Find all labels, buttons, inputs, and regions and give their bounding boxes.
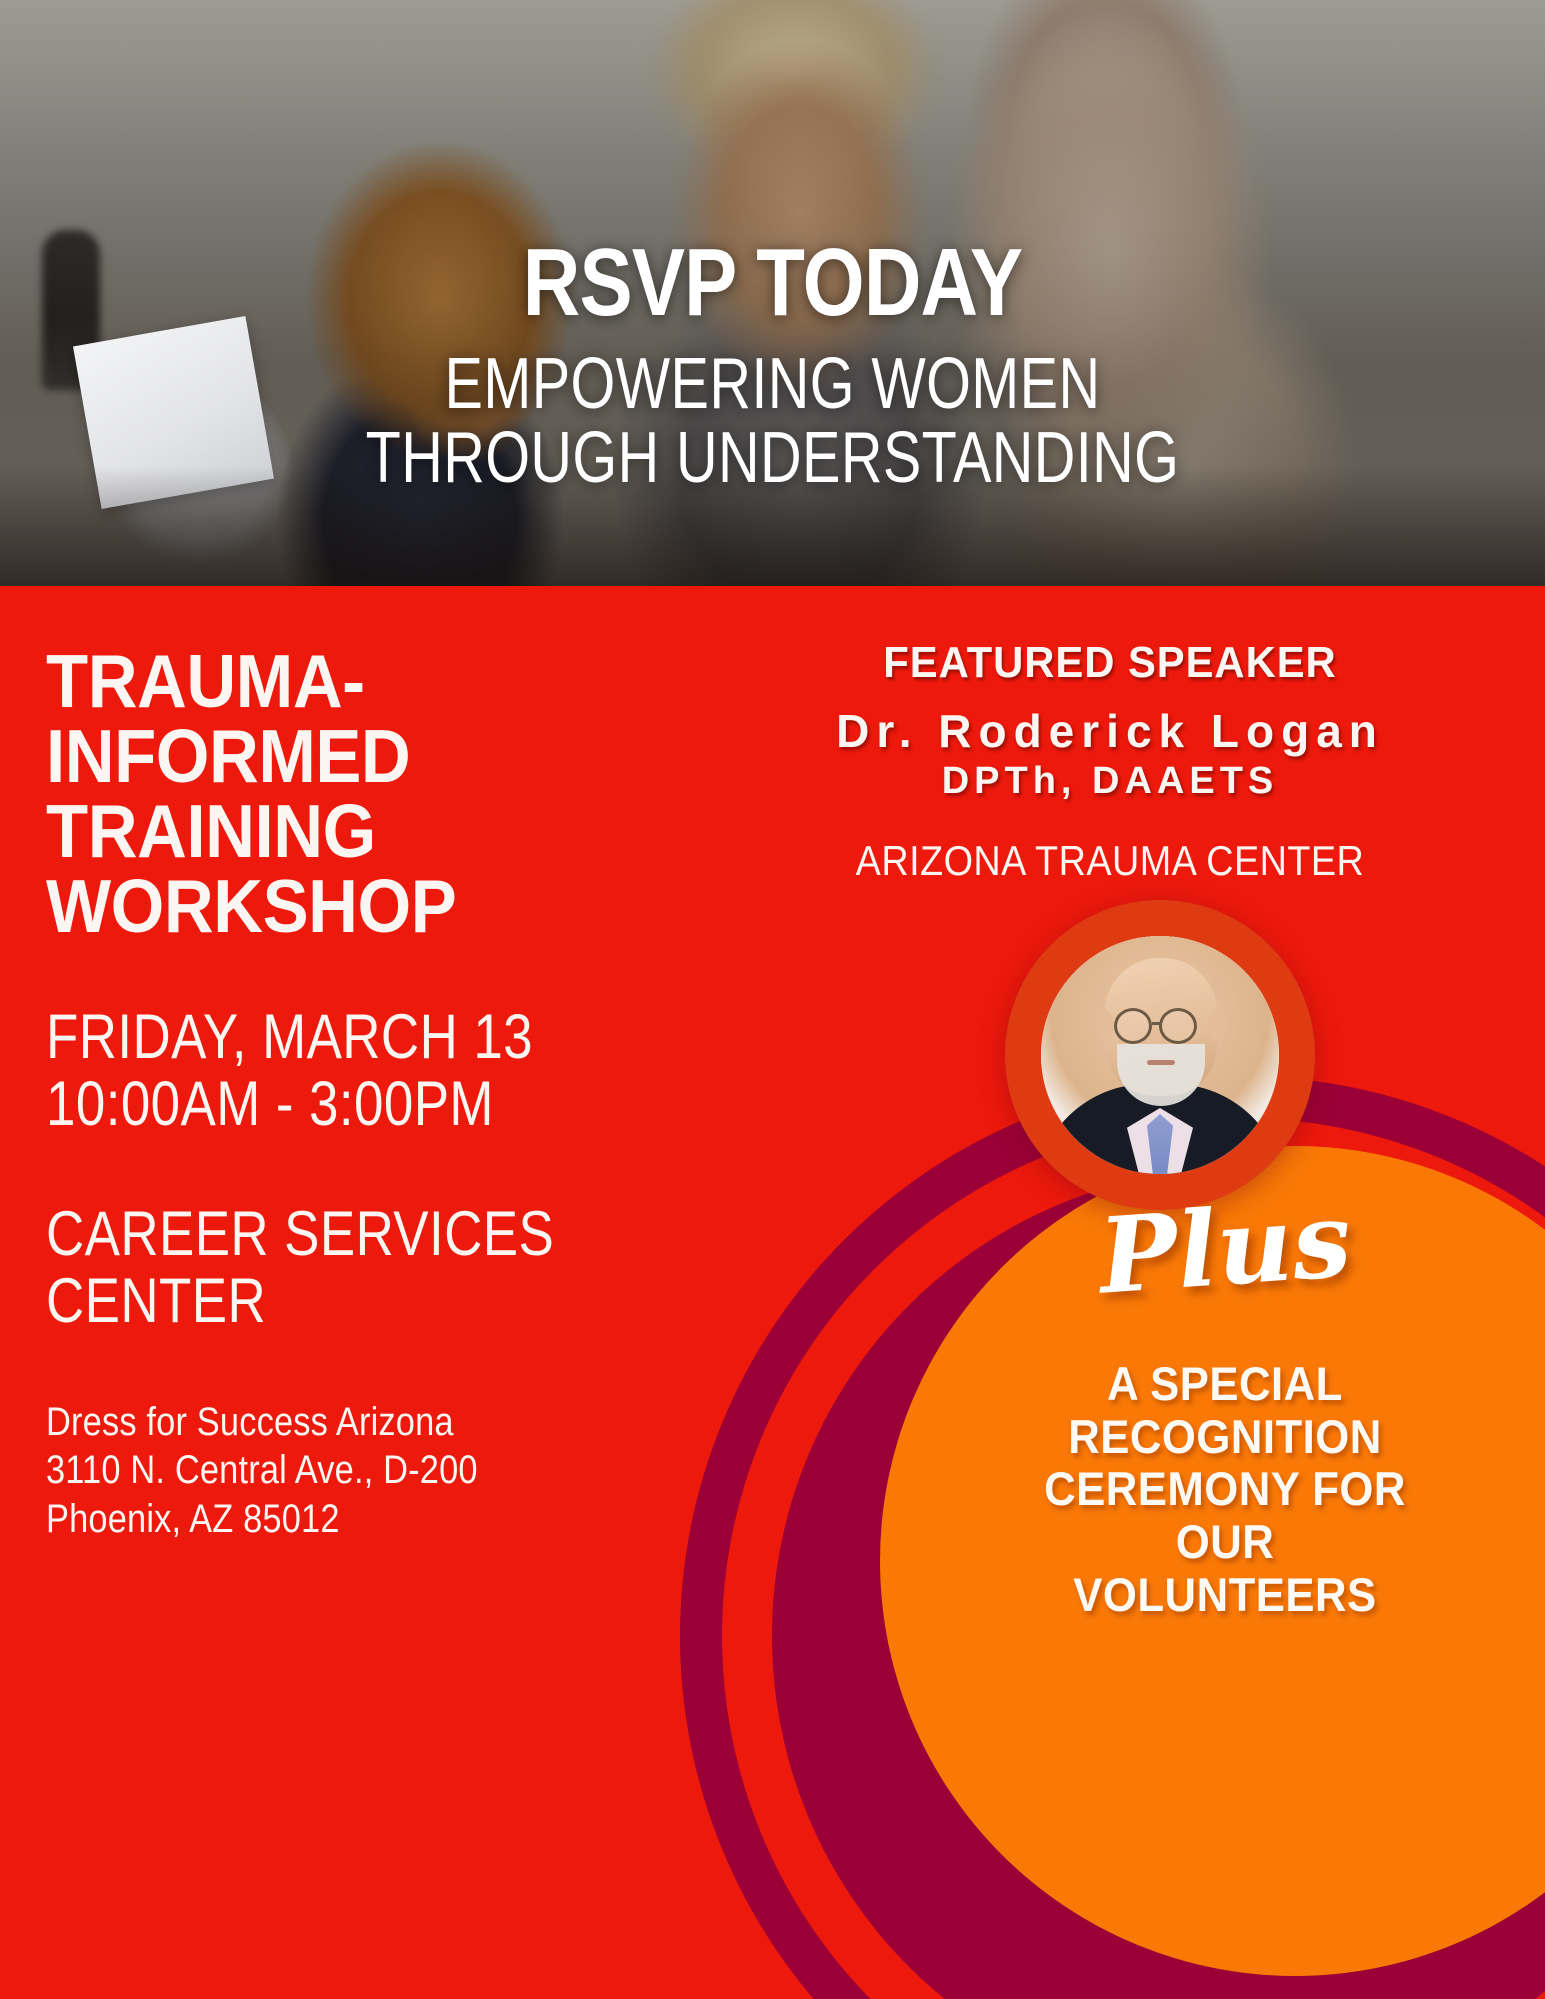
speaker-organization: ARIZONA TRAUMA CENTER [777, 837, 1443, 885]
plus-script-word: Plus [1007, 1181, 1443, 1315]
workshop-title-line-2: TRAINING WORKSHOP [46, 794, 690, 944]
hero-subtitle: EMPOWERING WOMEN THROUGH UNDERSTANDING [155, 348, 1391, 495]
event-details-column: TRAUMA-INFORMED TRAINING WORKSHOP FRIDAY… [46, 644, 746, 1544]
ceremony-line-4: OUR VOLUNTEERS [1025, 1516, 1425, 1621]
hero-subtitle-line-1: EMPOWERING WOMEN [155, 348, 1391, 421]
hero-subtitle-line-2: THROUGH UNDERSTANDING [155, 422, 1391, 495]
event-date: FRIDAY, MARCH 13 [46, 1004, 634, 1071]
venue-line-2: CENTER [46, 1268, 634, 1335]
ceremony-line-1: A SPECIAL [1025, 1358, 1425, 1411]
speaker-credentials: DPTh, DAAETS [740, 760, 1480, 803]
portrait-ear-right [1208, 1010, 1225, 1040]
venue-block: CAREER SERVICES CENTER [46, 1201, 634, 1336]
date-time-block: FRIDAY, MARCH 13 10:00AM - 3:00PM [46, 1004, 634, 1139]
venue-line-1: CAREER SERVICES [46, 1201, 634, 1268]
portrait-ear-left [1097, 1010, 1114, 1040]
address-line-3: Phoenix, AZ 85012 [46, 1495, 648, 1544]
featured-speaker-label: FEATURED SPEAKER [759, 638, 1462, 688]
body-section: TRAUMA-INFORMED TRAINING WORKSHOP FRIDAY… [0, 586, 1545, 1999]
speaker-photo-frame [1041, 936, 1279, 1174]
speaker-name: Dr. Roderick Logan [740, 704, 1480, 758]
speaker-portrait [1041, 936, 1279, 1174]
event-flyer: RSVP TODAY EMPOWERING WOMEN THROUGH UNDE… [0, 0, 1545, 1999]
hero-photo-section: RSVP TODAY EMPOWERING WOMEN THROUGH UNDE… [0, 0, 1545, 586]
speaker-column: FEATURED SPEAKER Dr. Roderick Logan DPTh… [740, 638, 1480, 885]
ceremony-text: A SPECIAL RECOGNITION CEREMONY FOR OUR V… [1025, 1358, 1425, 1621]
bonus-block: Plus A SPECIAL RECOGNITION CEREMONY FOR … [1010, 1196, 1440, 1621]
address-line-1: Dress for Success Arizona [46, 1398, 648, 1447]
speaker-medallion [1005, 900, 1315, 1210]
address-line-2: 3110 N. Central Ave., D-200 [46, 1446, 648, 1495]
address-block: Dress for Success Arizona 3110 N. Centra… [46, 1398, 648, 1544]
ceremony-line-2: RECOGNITION [1025, 1411, 1425, 1464]
workshop-title-line-1: TRAUMA-INFORMED [46, 644, 690, 794]
workshop-title: TRAUMA-INFORMED TRAINING WORKSHOP [46, 644, 690, 944]
portrait-glasses-right-lens [1159, 1008, 1197, 1044]
portrait-glasses-bridge [1152, 1022, 1161, 1025]
hero-title: RSVP TODAY [131, 236, 1413, 330]
hero-text-block: RSVP TODAY EMPOWERING WOMEN THROUGH UNDE… [0, 236, 1545, 495]
event-time: 10:00AM - 3:00PM [46, 1071, 634, 1138]
portrait-glasses-left-lens [1114, 1008, 1152, 1044]
portrait-mouth [1147, 1060, 1175, 1065]
ceremony-line-3: CEREMONY FOR [1025, 1463, 1425, 1516]
